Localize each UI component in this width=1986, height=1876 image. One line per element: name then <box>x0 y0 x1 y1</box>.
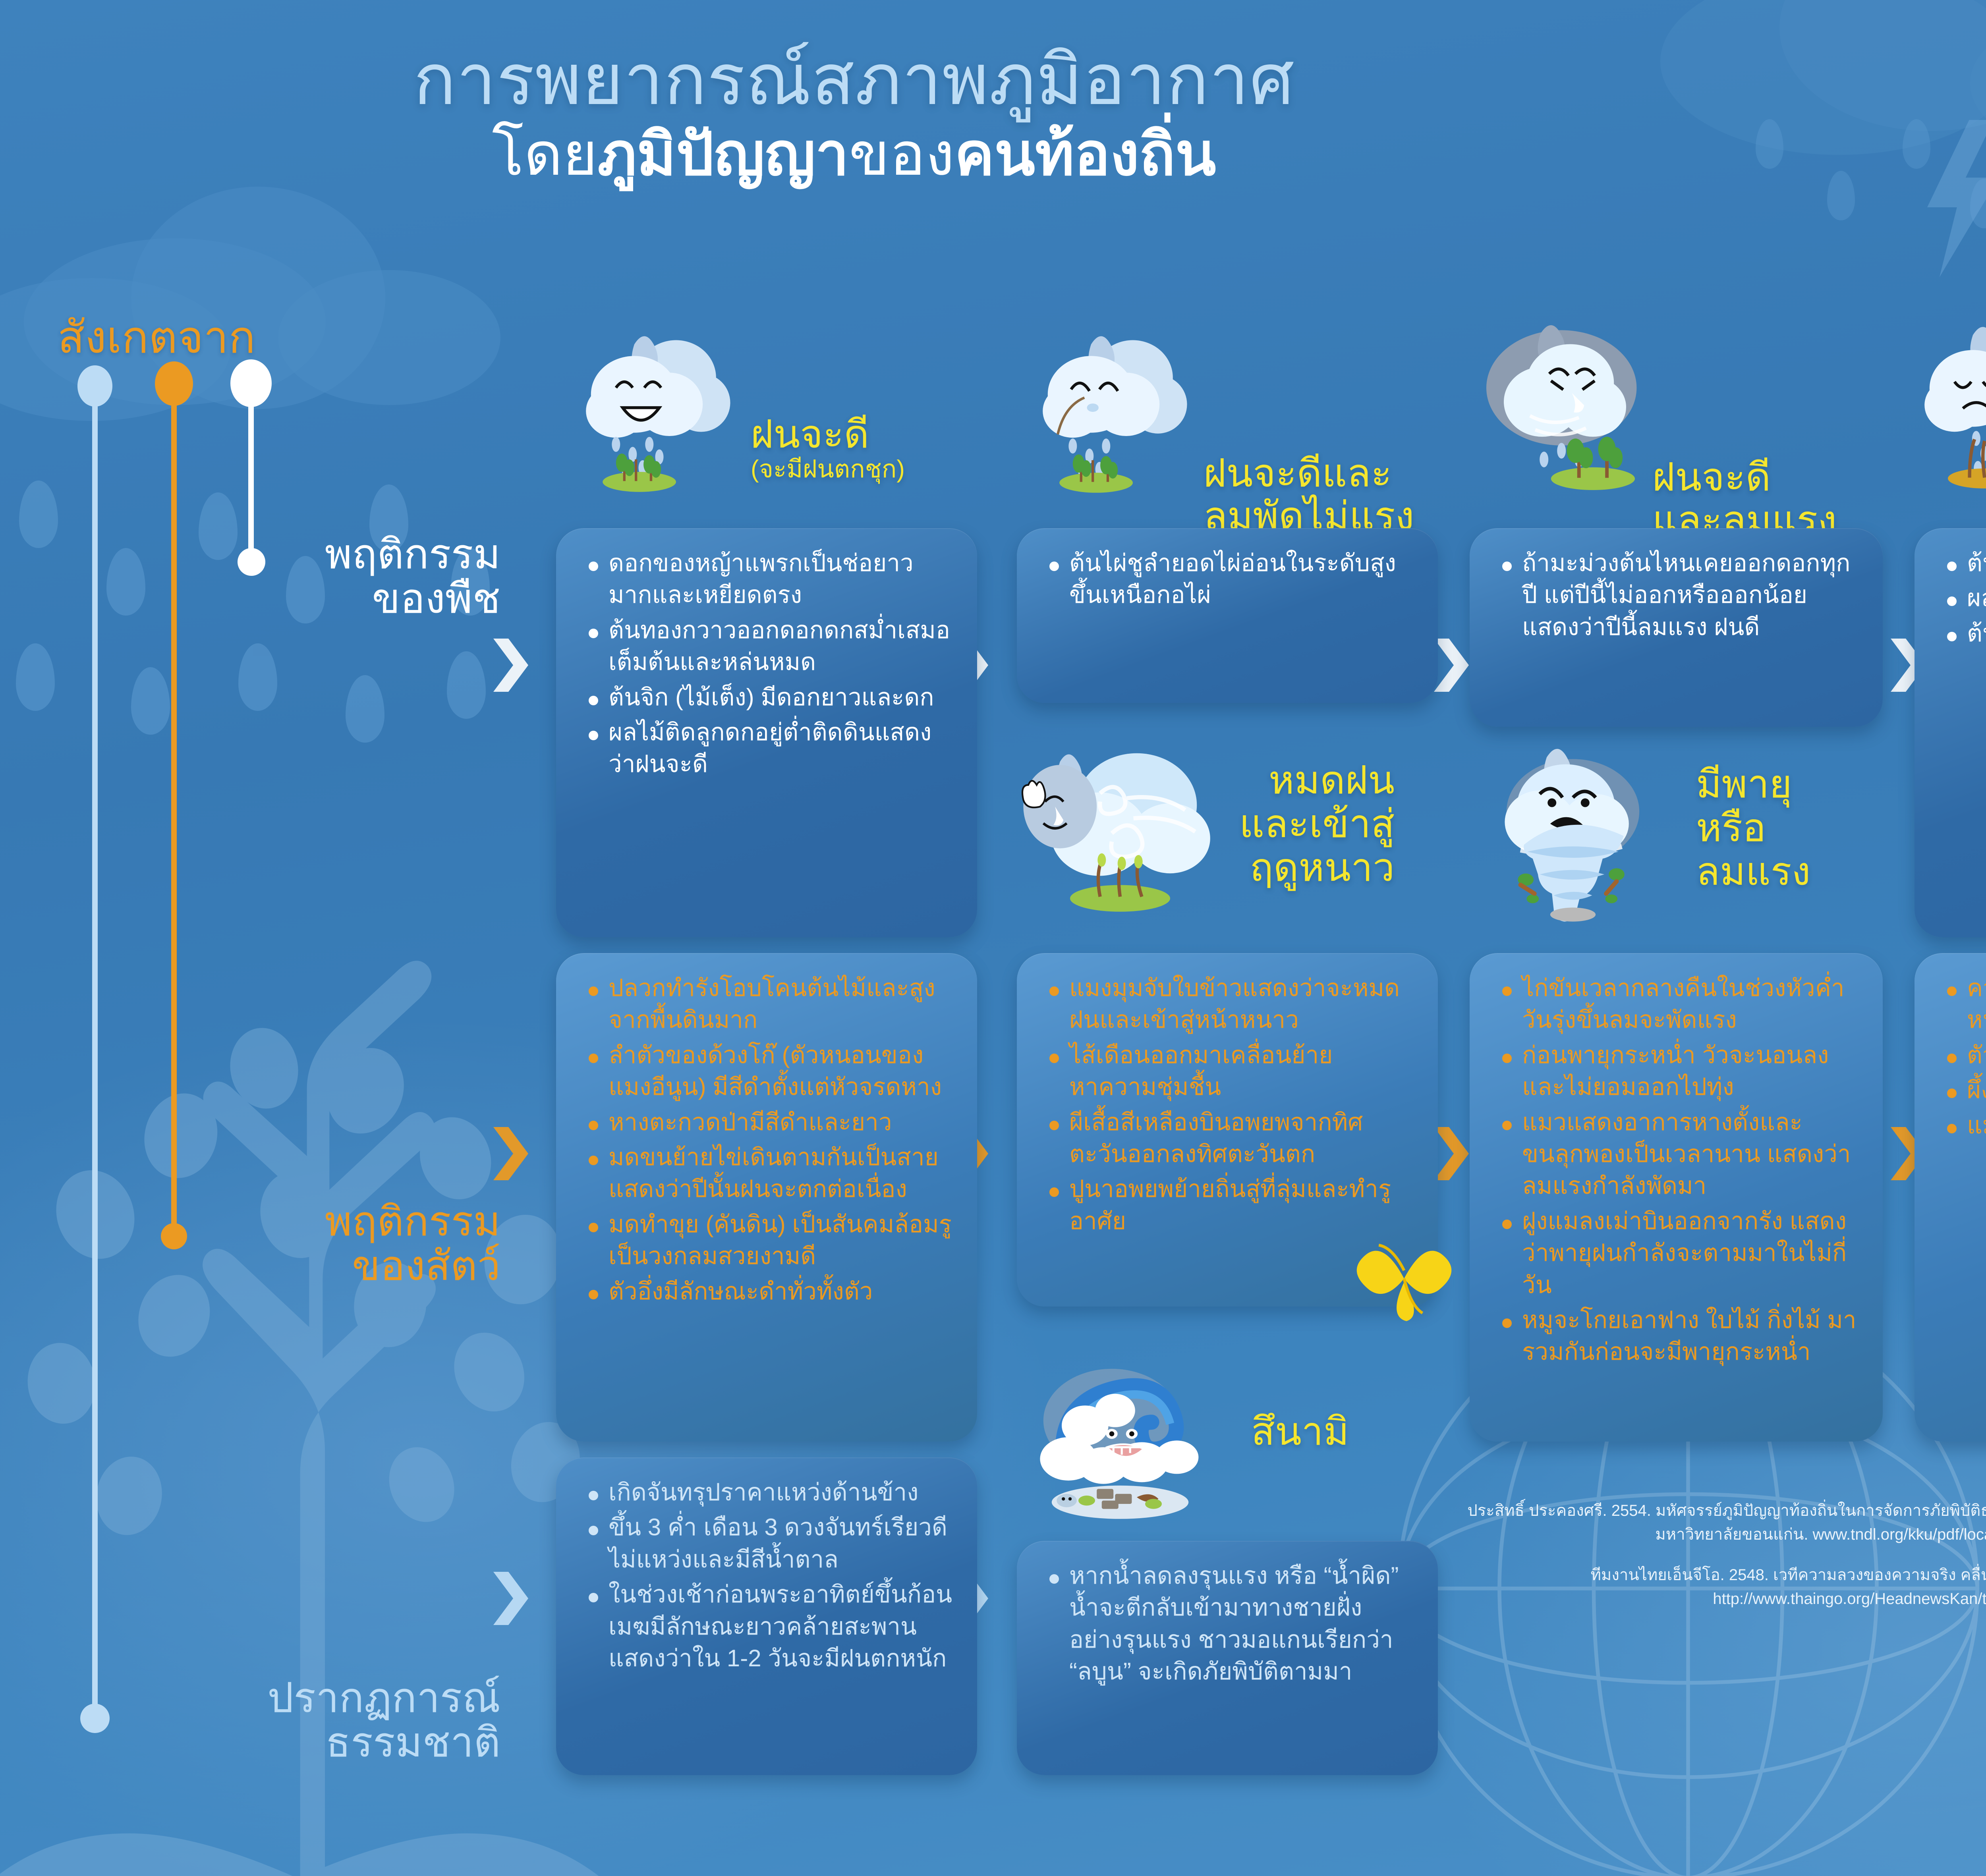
column-header-good-rain: ฝนจะดี (จะมีฝนตกชุก) <box>576 318 997 516</box>
rail-label-plants-line1: พฤติกรรม <box>325 532 500 577</box>
list-item: แมงดาวางไข่ต่ำ <box>1943 1110 1986 1141</box>
page-header: การพยากรณ์สภาพภูมิอากาศ โดยภูมิปัญญาของค… <box>0 44 1708 188</box>
source-reference-2: ทีมงานไทยเอ็นจีโอ. 2548. เวทีความลวงของค… <box>1443 1563 1986 1611</box>
rail-stem-nature <box>248 401 254 558</box>
rail-endknob-nature <box>238 548 265 576</box>
crying-rain-cloud-icon <box>1033 326 1200 496</box>
rail-endknob-animals <box>161 1223 187 1249</box>
mid-block-end-of-rain: หมดฝน และเข้าสู่ ฤดูหนาว <box>1017 747 1462 937</box>
rail-label-animals-line1: พฤติกรรม <box>325 1199 500 1244</box>
tornado-icon <box>1486 747 1660 925</box>
mid-block-storm: มีพายุ หรือ ลมแรง <box>1486 747 1915 945</box>
rail-heading: สังเกตจาก <box>58 302 255 372</box>
rail-endknob-plants <box>80 1704 110 1733</box>
source-citation: ที่มา : ประสิทธิ์ ประคองศรี. 2554. มหัศจ… <box>1443 1469 1986 1627</box>
lightning-bolt-icon <box>1918 119 1986 278</box>
list-item: ต้นไผ่ชูลำยอดไผ่อ่อนในระดับสูงขึ้นเหนือก… <box>1045 547 1413 611</box>
list-plants-col3: ถ้ามะม่วงต้นไหนเคยออกดอกทุกปี แต่ปีนี้ไม… <box>1498 547 1858 643</box>
list-item: ฝูงแมลงเม่าบินออกจากรัง แสดงว่าพายุฝนกำล… <box>1498 1205 1858 1301</box>
card-animals-col4: ควายเมื่อปล่อยจากคอกเอาเท้าหน้าขูดดินทิศ… <box>1915 953 1986 1442</box>
card-plants-col1: ดอกของหญ้าแพรกเป็นช่อยาวมากและเหยียดตรง … <box>556 528 977 937</box>
list-item: ขึ้น 3 ค่ำ เดือน 3 ดวงจันทร์เรียวดี ไม่แ… <box>585 1511 952 1575</box>
subtitle-bold-locals: คนท้องถิ่น <box>954 121 1216 187</box>
card-plants-col3: ถ้ามะม่วงต้นไหนเคยออกดอกทุกปี แต่ปีนี้ไม… <box>1470 528 1883 727</box>
list-item: ผึ้งทำรังต่ำ <box>1943 1074 1986 1106</box>
list-item: ผีเสื้อสีเหลืองบินอพยพจากทิศตะวันออกลงทิ… <box>1045 1106 1413 1170</box>
list-item: เกิดจันทรุปราคาแหว่งด้านข้าง <box>585 1476 952 1508</box>
list-nature-col1: เกิดจันทรุปราคาแหว่งด้านข้าง ขึ้น 3 ค่ำ … <box>585 1476 952 1674</box>
subtitle-bold-wisdom: ภูมิปัญญา <box>597 121 849 187</box>
card-nature-col1: เกิดจันทรุปราคาแหว่งด้านข้าง ขึ้น 3 ค่ำ … <box>556 1457 977 1775</box>
rail-stem-animals <box>171 401 177 1235</box>
rail-label-nature: ปรากฏการณ์ ธรรมชาติ <box>267 1676 500 1765</box>
rail-label-nature-line2: ธรรมชาติ <box>267 1720 500 1765</box>
column-title-text: ฝนจะดี <box>751 412 869 456</box>
column-title-good-rain-light-wind: ฝนจะดีและ ลมพัดไม่แรง <box>1204 409 1414 537</box>
windy-cloud-icon <box>1017 747 1223 913</box>
page-title: การพยากรณ์สภาพภูมิอากาศ <box>0 44 1708 116</box>
list-item: ผลกะทกรกมีขนหุ้มมาก <box>1943 582 1986 614</box>
list-item: หางตะกวดป่ามีสีดำและยาว <box>585 1106 952 1138</box>
card-plants-col4: ต้นมะขามออกดอกมาก ผลกะทกรกมีขนหุ้มมาก ต้… <box>1915 528 1986 937</box>
list-animals-col2: แมงมุมจับใบข้าวแสดงว่าจะหมดฝนและเข้าสู่ห… <box>1045 972 1413 1237</box>
list-item: ต้นบกมีผลดกเต็มต้น <box>1943 618 1986 649</box>
rail-knob-animals <box>155 361 193 406</box>
angry-storm-cloud-icon <box>1478 318 1652 496</box>
happy-rain-cloud-icon <box>576 326 743 496</box>
rail-knob-nature <box>230 359 272 407</box>
observation-rail: สังเกตจาก พฤติกรรม ของพืช พฤติกรรม ของสั… <box>0 302 552 1692</box>
source-reference-1: ประสิทธิ์ ประคองศรี. 2554. มหัศจรรย์ภูมิ… <box>1443 1499 1986 1546</box>
card-plants-col2: ต้นไผ่ชูลำยอดไผ่อ่อนในระดับสูงขึ้นเหนือก… <box>1017 528 1438 703</box>
list-item: ดอกของหญ้าแพรกเป็นช่อยาวมากและเหยียดตรง <box>585 547 952 611</box>
list-item: ต้นจิก (ไม้เต็ง) มีดอกยาวและดก <box>585 681 952 713</box>
column-title-text: ฝนจะดีและ ลมพัดไม่แรง <box>1204 451 1414 538</box>
rail-knob-plants <box>77 365 112 407</box>
list-item: มดทำขุย (คันดิน) เป็นสันคมล้อมรูเป็นวงกล… <box>585 1208 952 1272</box>
mid-label-tsunami: สึนามิ <box>1251 1410 1349 1453</box>
list-item: แมงมุมจับใบข้าวแสดงว่าจะหมดฝนและเข้าสู่ห… <box>1045 972 1413 1036</box>
list-animals-col4: ควายเมื่อปล่อยจากคอกเอาเท้าหน้าขูดดินทิศ… <box>1943 972 1986 1141</box>
mid-block-tsunami: สึนามิ <box>1017 1362 1462 1553</box>
column-header-good-rain-light-wind: ฝนจะดีและ ลมพัดไม่แรง <box>1033 318 1470 516</box>
list-item: ลำตัวของด้วงโก๊ (ตัวหนอนของแมงอีนูน) มีส… <box>585 1039 952 1103</box>
list-item: มดขนย้ายไข่เดินตามกันเป็นสายแสดงว่าปีนั้… <box>585 1141 952 1205</box>
list-item: ในช่วงเช้าก่อนพระอาทิตย์ขึ้นก้อนเมฆมีลัก… <box>585 1579 952 1674</box>
list-animals-col3: ไก่ขันเวลากลางคืนในช่วงหัวค่ำ วันรุ่งขึ้… <box>1498 972 1858 1368</box>
tsunami-wave-icon <box>1017 1362 1223 1529</box>
list-item: ตัวอึ่งมีลักษณะดำไม่ทั่วตัว <box>1943 1039 1986 1071</box>
list-item: ต้นทองกวาวออกดอกดกสม่ำเสมอเต็มต้นและหล่น… <box>585 614 952 678</box>
butterfly-icon <box>1347 1215 1462 1330</box>
list-plants-col1: ดอกของหญ้าแพรกเป็นช่อยาวมากและเหยียดตรง … <box>585 547 952 780</box>
list-item: ก่อนพายุกระหน่ำ วัวจะนอนลงและไม่ยอมออกไป… <box>1498 1039 1858 1103</box>
list-item: ไส้เดือนออกมาเคลื่อนย้ายหาความชุ่มชื้น <box>1045 1039 1413 1103</box>
column-title-good-rain: ฝนจะดี (จะมีฝนตกชุก) <box>751 413 905 483</box>
list-item: ไก่ขันเวลากลางคืนในช่วงหัวค่ำ วันรุ่งขึ้… <box>1498 972 1858 1036</box>
rail-stem-plants <box>92 401 98 1720</box>
mid-label-end-of-rain: หมดฝน และเข้าสู่ ฤดูหนาว <box>1239 759 1395 889</box>
list-item: ต้นมะขามออกดอกมาก <box>1943 547 1986 579</box>
card-nature-col2: หากน้ำลดลงรุนแรง หรือ “น้ำผิด” น้ำจะตีกล… <box>1017 1541 1438 1775</box>
list-plants-col4: ต้นมะขามออกดอกมาก ผลกะทกรกมีขนหุ้มมาก ต้… <box>1943 547 1986 649</box>
rail-label-animals-line2: ของสัตว์ <box>325 1244 500 1288</box>
list-item: หมูจะโกยเอาฟาง ใบไม้ กิ่งไม้ มารวมกันก่อ… <box>1498 1304 1858 1368</box>
subtitle-prefix: โดย <box>492 121 597 187</box>
card-animals-col1: ปลวกทำรังโอบโคนต้นไม้และสูงจากพื้นดินมาก… <box>556 953 977 1442</box>
rail-label-plants-line2: ของพืช <box>325 577 500 621</box>
subtitle-mid: ของ <box>849 121 954 187</box>
list-item: ผลไม้ติดลูกดกอยู่ต่ำติดดินแสดงว่าฝนจะดี <box>585 716 952 780</box>
list-plants-col2: ต้นไผ่ชูลำยอดไผ่อ่อนในระดับสูงขึ้นเหนือก… <box>1045 547 1413 611</box>
list-nature-col2: หากน้ำลดลงรุนแรง หรือ “น้ำผิด” น้ำจะตีกล… <box>1045 1560 1413 1688</box>
column-header-bad-rain: ฝนจะไม่ดี (ฝนตกน้อย มีน้ำน้อย) <box>1915 314 1986 512</box>
column-header-good-rain-strong-wind: ฝนจะดี และลมแรง <box>1478 314 1915 512</box>
list-item: ถ้ามะม่วงต้นไหนเคยออกดอกทุกปี แต่ปีนี้ไม… <box>1498 547 1858 643</box>
mid-label-storm: มีพายุ หรือ ลมแรง <box>1696 762 1810 893</box>
list-item: ควายเมื่อปล่อยจากคอกเอาเท้าหน้าขูดดินทิศ… <box>1943 972 1986 1036</box>
list-item: ปลวกทำรังโอบโคนต้นไม้และสูงจากพื้นดินมาก <box>585 972 952 1036</box>
list-item: ตัวอึ่งมีลักษณะดำทั่วทั้งตัว <box>585 1276 952 1307</box>
list-item: แมวแสดงอาการหางตั้งและขนลุกพองเป็นเวลานา… <box>1498 1106 1858 1202</box>
list-animals-col1: ปลวกทำรังโอบโคนต้นไม้และสูงจากพื้นดินมาก… <box>585 972 952 1307</box>
rail-label-nature-line1: ปรากฏการณ์ <box>267 1676 500 1720</box>
column-subtitle-text: (จะมีฝนตกชุก) <box>751 456 905 483</box>
rail-label-animals: พฤติกรรม ของสัตว์ <box>325 1199 500 1289</box>
rail-label-plants: พฤติกรรม ของพืช <box>325 532 500 621</box>
sad-drought-cloud-icon <box>1915 318 1986 492</box>
list-item: หากน้ำลดลงรุนแรง หรือ “น้ำผิด” น้ำจะตีกล… <box>1045 1560 1413 1688</box>
page-subtitle: โดยภูมิปัญญาของคนท้องถิ่น <box>0 120 1708 189</box>
card-animals-col3: ไก่ขันเวลากลางคืนในช่วงหัวค่ำ วันรุ่งขึ้… <box>1470 953 1883 1442</box>
column-title-good-rain-strong-wind: ฝนจะดี และลมแรง <box>1652 413 1837 541</box>
source-label: ที่มา : <box>1443 1469 1986 1493</box>
